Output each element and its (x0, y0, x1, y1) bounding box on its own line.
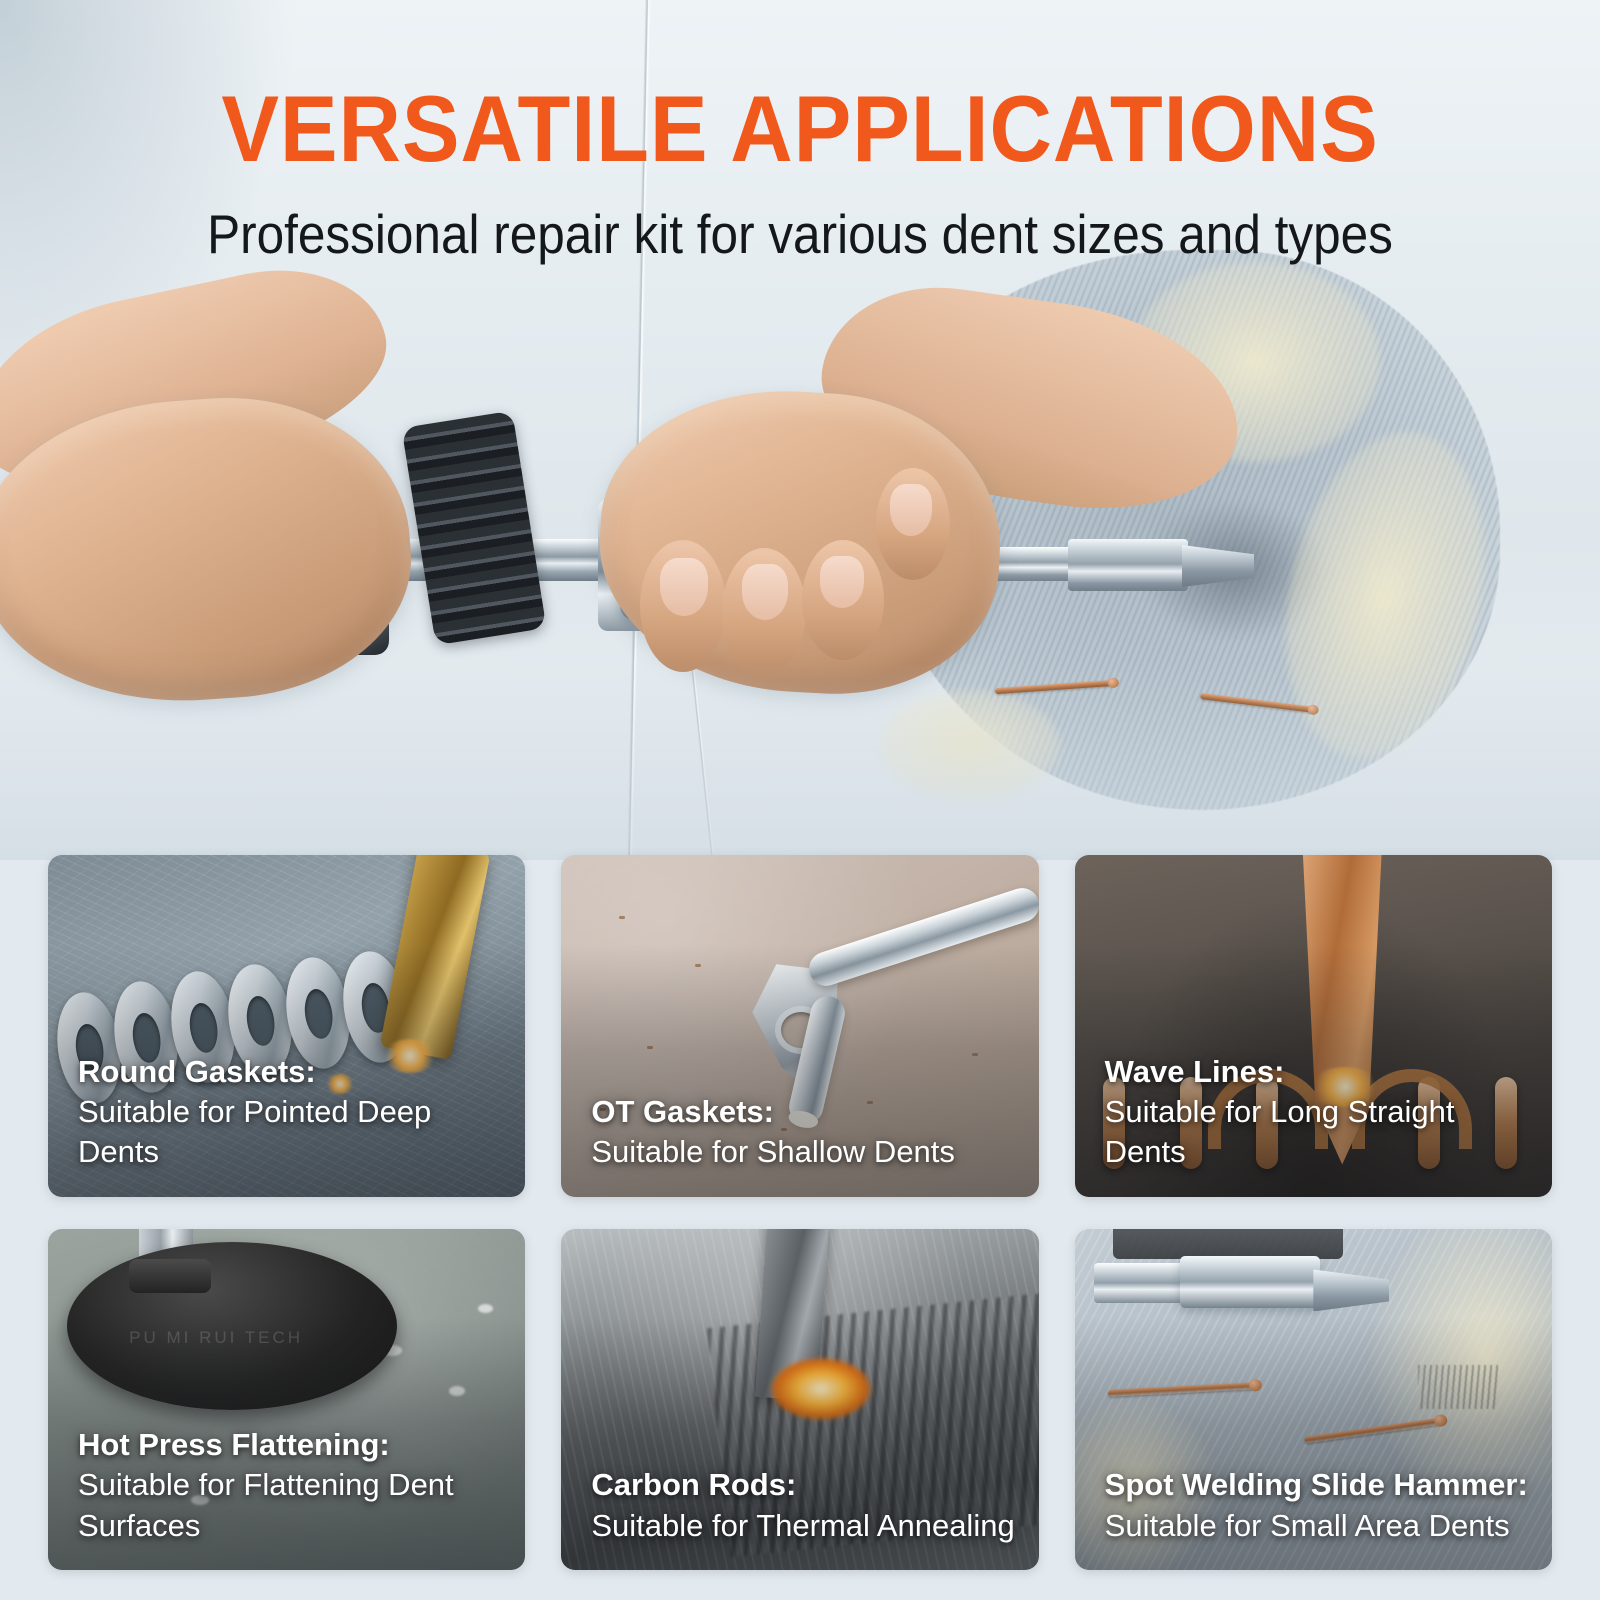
applications-grid: Round Gaskets: Suitable for Pointed Deep… (48, 855, 1552, 1570)
card-round-gaskets[interactable]: Round Gaskets: Suitable for Pointed Deep… (48, 855, 525, 1197)
fingernail (660, 558, 708, 616)
card-label: Hot Press Flattening: (78, 1427, 390, 1462)
card-caption: Round Gaskets: Suitable for Pointed Deep… (78, 1052, 503, 1173)
slide-hammer-hex-collar (1180, 1256, 1320, 1308)
card-label: Round Gaskets: (78, 1054, 316, 1089)
card-hot-press-flattening[interactable]: PU MI RUI TECH Hot Press Flattening: Sui… (48, 1229, 525, 1571)
tool-hex-collar (1068, 539, 1188, 591)
card-description: Suitable for Small Area Dents (1105, 1508, 1510, 1543)
panel-shadow-bottom (0, 660, 1600, 860)
card-carbon-rods[interactable]: Carbon Rods: Suitable for Thermal Anneal… (561, 1229, 1038, 1571)
card-label: Carbon Rods: (591, 1467, 796, 1502)
page-title: VERSATILE APPLICATIONS (64, 82, 1536, 176)
card-caption: OT Gaskets: Suitable for Shallow Dents (591, 1092, 1016, 1173)
press-collar (129, 1259, 211, 1293)
card-spot-welding-slide-hammer[interactable]: Spot Welding Slide Hammer: Suitable for … (1075, 1229, 1552, 1571)
card-label: OT Gaskets: (591, 1094, 774, 1129)
card-caption: Hot Press Flattening: Suitable for Flatt… (78, 1425, 503, 1546)
card-wave-lines[interactable]: Wave Lines: Suitable for Long Straight D… (1075, 855, 1552, 1197)
card-caption: Carbon Rods: Suitable for Thermal Anneal… (591, 1465, 1016, 1546)
panel-edge-shadow (1113, 1229, 1343, 1259)
tool-welding-tip (1182, 545, 1254, 587)
card-description: Suitable for Shallow Dents (591, 1134, 955, 1169)
fingernail (890, 484, 932, 536)
card-description: Suitable for Long Straight Dents (1105, 1094, 1455, 1169)
page-subtitle: Professional repair kit for various dent… (80, 204, 1520, 265)
fingernail (742, 564, 788, 620)
card-ot-gaskets[interactable]: OT Gaskets: Suitable for Shallow Dents (561, 855, 1038, 1197)
card-description: Suitable for Thermal Annealing (591, 1508, 1014, 1543)
card-caption: Wave Lines: Suitable for Long Straight D… (1105, 1052, 1530, 1173)
card-description: Suitable for Flattening Dent Surfaces (78, 1467, 454, 1542)
card-caption: Spot Welding Slide Hammer: Suitable for … (1105, 1465, 1530, 1546)
card-label: Spot Welding Slide Hammer: (1105, 1467, 1528, 1502)
fingernail (820, 556, 864, 608)
card-description: Suitable for Pointed Deep Dents (78, 1094, 431, 1169)
card-label: Wave Lines: (1105, 1054, 1285, 1089)
